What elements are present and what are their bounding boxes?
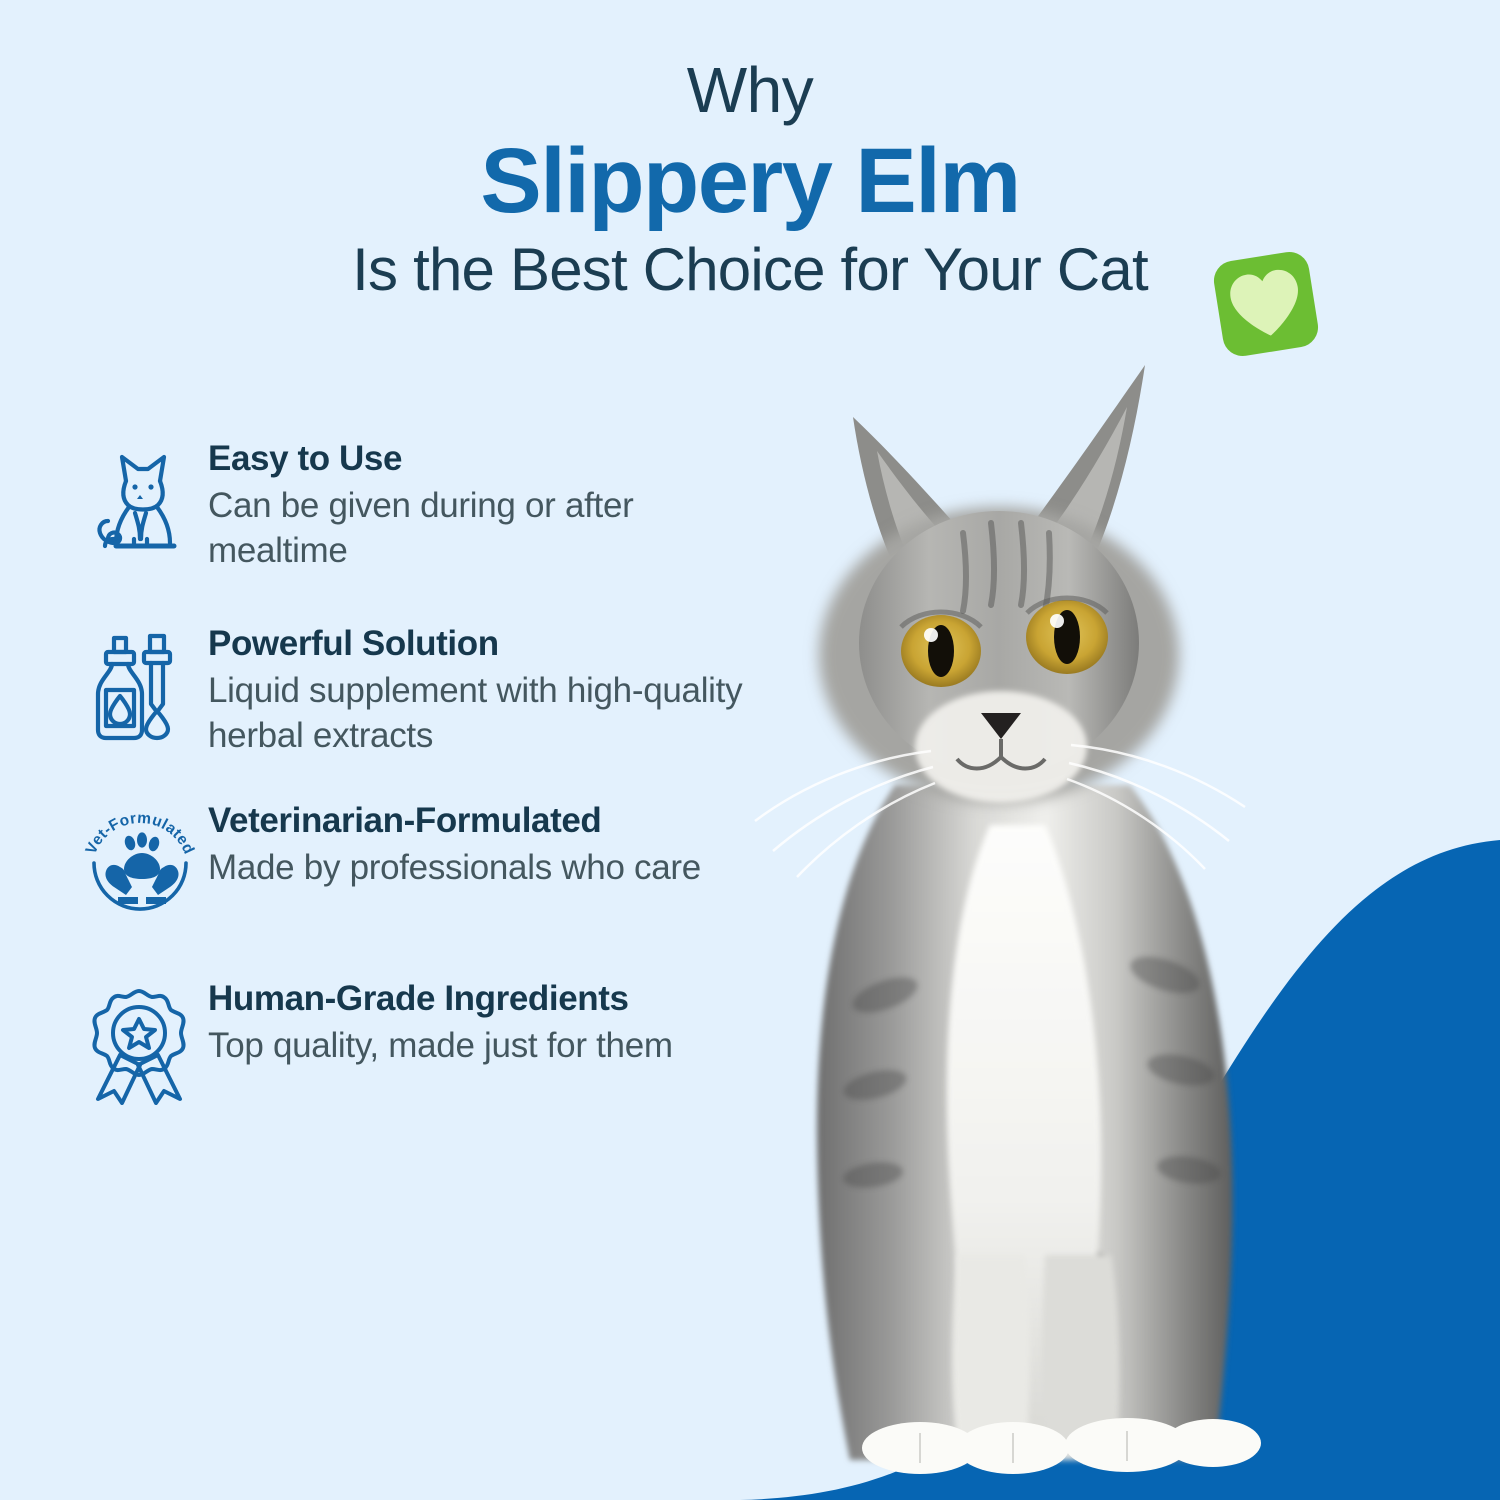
vet-formulated-seal-icon: Vet-Formulated: [80, 809, 200, 927]
feature-item-human-grade-ingredients: Human-Grade Ingredients Top quality, mad…: [72, 977, 772, 1113]
feature-title: Easy to Use: [208, 439, 772, 479]
feature-icon-slot: [72, 977, 208, 1113]
feature-item-powerful-solution: Powerful Solution Liquid supplement with…: [72, 622, 772, 759]
feature-title: Veterinarian-Formulated: [208, 801, 772, 841]
feature-description: Liquid supplement with high-quality herb…: [208, 669, 772, 759]
sitting-cat-icon: [88, 447, 192, 559]
headline-product-name: Slippery Elm: [0, 127, 1500, 236]
feature-text-block: Veterinarian-Formulated Made by professi…: [208, 799, 772, 891]
feature-list: Easy to Use Can be given during or after…: [72, 437, 772, 1157]
feature-item-easy-to-use: Easy to Use Can be given during or after…: [72, 437, 772, 574]
feature-item-veterinarian-formulated: Vet-Formulated: [72, 799, 772, 935]
award-rosette-icon: [86, 987, 194, 1105]
feature-icon-slot: [72, 437, 208, 573]
feature-text-block: Easy to Use Can be given during or after…: [208, 437, 772, 574]
blue-wave-decoration: [740, 800, 1500, 1500]
headline-line-1: Why: [0, 58, 1500, 123]
cat-photo: [745, 355, 1305, 1500]
feature-description: Can be given during or after mealtime: [208, 484, 772, 574]
infographic-page: Why Slippery Elm Is the Best Choice for …: [0, 0, 1500, 1500]
dropper-bottle-icon: [88, 632, 192, 744]
heart-badge-icon: [1206, 244, 1326, 364]
feature-title: Powerful Solution: [208, 624, 772, 664]
feature-description: Made by professionals who care: [208, 846, 772, 891]
feature-title: Human-Grade Ingredients: [208, 979, 772, 1019]
feature-text-block: Human-Grade Ingredients Top quality, mad…: [208, 977, 772, 1069]
feature-icon-slot: [72, 622, 208, 758]
feature-text-block: Powerful Solution Liquid supplement with…: [208, 622, 772, 759]
feature-description: Top quality, made just for them: [208, 1024, 772, 1069]
feature-icon-slot: Vet-Formulated: [72, 799, 208, 935]
